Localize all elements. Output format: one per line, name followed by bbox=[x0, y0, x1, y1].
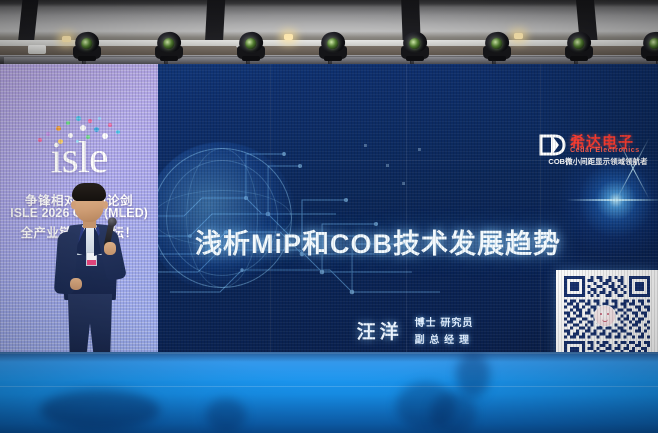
moving-head-light-icon bbox=[72, 30, 102, 60]
moving-head-light-icon bbox=[640, 30, 658, 60]
moving-head-light-icon bbox=[564, 30, 594, 60]
floor-reflection bbox=[206, 398, 246, 432]
presenter-hand bbox=[70, 278, 82, 290]
presenter-hair bbox=[72, 183, 106, 201]
moving-head-light-icon bbox=[482, 30, 512, 60]
moving-head-light-icon bbox=[400, 30, 430, 60]
floor-reflection bbox=[456, 352, 490, 398]
presenter-hand bbox=[104, 242, 116, 255]
downlight-icon bbox=[514, 33, 523, 39]
moving-head-light-icon bbox=[236, 30, 266, 60]
presenter-legs bbox=[66, 294, 114, 358]
floor-reflection bbox=[430, 392, 476, 433]
downlight-icon bbox=[62, 36, 71, 42]
ceiling-sensor bbox=[28, 45, 46, 54]
presenter-ear bbox=[103, 201, 108, 209]
presenter bbox=[46, 186, 132, 364]
moving-head-light-icon bbox=[154, 30, 184, 60]
moving-head-light-icon bbox=[318, 30, 348, 60]
presenter-ear bbox=[71, 201, 76, 209]
stage-floor bbox=[0, 352, 658, 433]
stage-photo-scene: isle 争锋相对 华山论剑 ISLE 2026 COB (MLED) 全产业链… bbox=[0, 0, 658, 433]
downlight-icon bbox=[284, 34, 293, 40]
floor-reflection bbox=[40, 390, 160, 430]
